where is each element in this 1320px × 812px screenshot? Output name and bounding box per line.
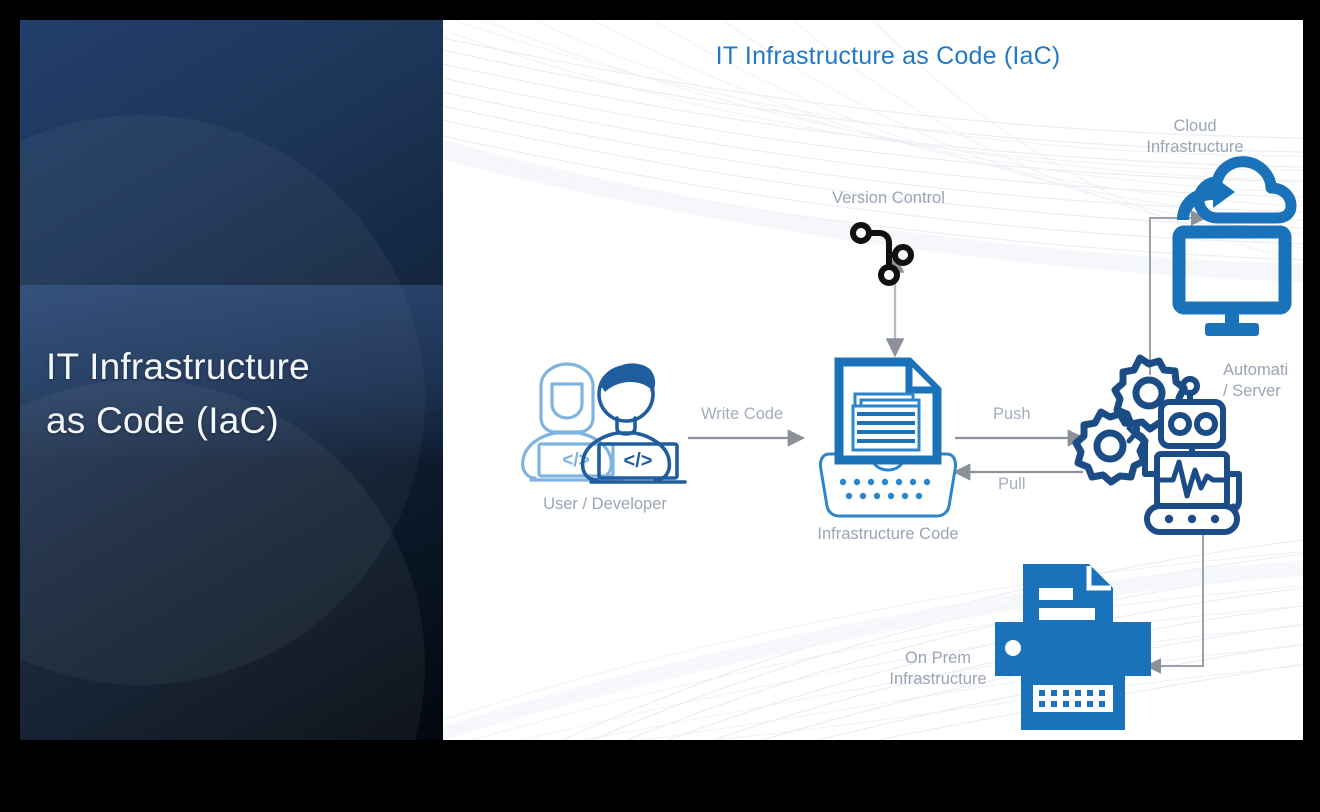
node-user-developer[interactable]: </> </> User / Developer	[505, 360, 705, 515]
node-label-automation-server: Automati / Server	[1223, 360, 1288, 401]
code-glyph-right: </>	[624, 450, 653, 472]
git-branch-icon	[791, 215, 986, 285]
node-label-on-prem-infrastructure: On Prem Infrastructure	[863, 648, 1013, 691]
flow-label-pull: Pull	[998, 475, 1026, 494]
cloud-monitor-icon	[1173, 158, 1303, 343]
slide-title-panel: IT Infrastructure as Code (IaC)	[20, 20, 443, 740]
document-typewriter-icon	[813, 360, 963, 520]
flow-label-write-code: Write Code	[701, 405, 783, 424]
node-automation-server[interactable]: Automati / Server	[1083, 350, 1283, 535]
two-people-with-laptops-icon: </> </>	[505, 360, 705, 490]
node-label-cloud-infrastructure: Cloud Infrastructure	[1115, 116, 1275, 159]
node-on-prem-infrastructure[interactable]: On Prem Infrastructure	[983, 560, 1193, 735]
flow-label-push: Push	[993, 405, 1031, 424]
node-label-infrastructure-code: Infrastructure Code	[813, 524, 963, 545]
slide-canvas: IT Infrastructure as Code (IaC)	[20, 20, 1303, 740]
node-version-control[interactable]: Version Control	[791, 188, 986, 285]
node-label-user-developer: User / Developer	[505, 494, 705, 515]
node-infrastructure-code[interactable]: Infrastructure Code	[813, 360, 963, 545]
page-title: IT Infrastructure as Code (IaC)	[46, 340, 436, 447]
node-label-version-control: Version Control	[791, 188, 986, 209]
diagram-canvas: IT Infrastructure as Code (IaC)	[443, 20, 1303, 740]
